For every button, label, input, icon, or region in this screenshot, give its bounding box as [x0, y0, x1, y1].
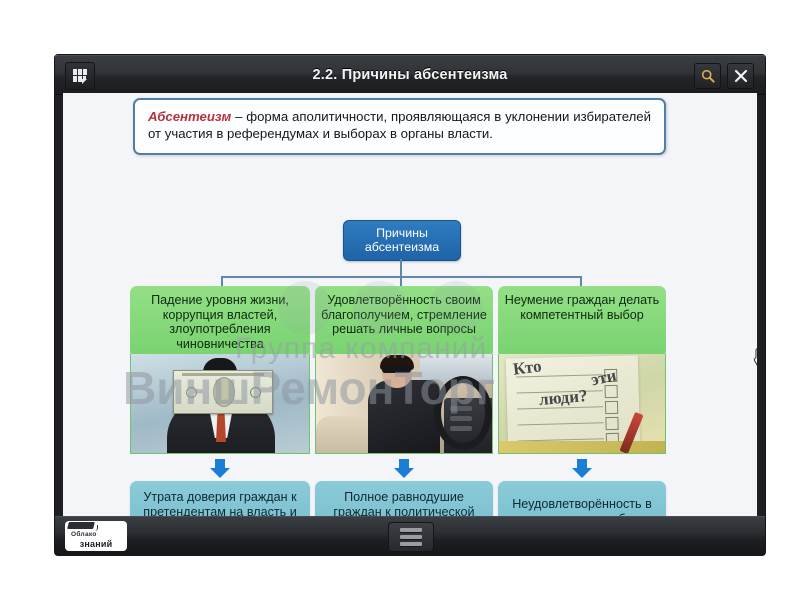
close-icon[interactable] [727, 63, 754, 89]
search-icon[interactable] [694, 63, 721, 89]
definition-text: Абсентеизм – форма аполитичности, проявл… [148, 108, 651, 143]
definition-box: Абсентеизм – форма аполитичности, проявл… [133, 98, 666, 155]
photo-man-driving [315, 354, 493, 454]
diagram-root-node: Причины абсентеизма [343, 220, 461, 261]
photo-bowler-hat-dollar [130, 354, 310, 454]
result-box-3: Неудовлетворённость в правильности выбор… [498, 481, 666, 517]
presentation-window: 2.2. Причины абсентеизма Абсентеизм – фо… [55, 55, 765, 555]
result-box-1: Утрата доверия граждан к претендентам на… [130, 481, 310, 517]
connector-branch-2 [400, 276, 402, 286]
photo-ballot-scribble: Кто эти люди? [498, 354, 666, 454]
definition-term: Абсентеизм [148, 109, 231, 124]
app-logo[interactable]: Облако знаний [65, 521, 127, 551]
logo-line-2: знаний [68, 539, 124, 549]
result-box-2: Полное равнодушие граждан к политической… [315, 481, 493, 517]
ballot-scribble-1: Кто [512, 356, 543, 379]
ballot-scribble-3: люди? [538, 386, 588, 410]
window-titlebar: 2.2. Причины абсентеизма [55, 55, 765, 95]
window-title: 2.2. Причины абсентеизма [55, 56, 765, 94]
logo-line-1: Облако [71, 531, 123, 538]
connector-branch-1 [221, 276, 223, 286]
connector-root-vertical [400, 259, 402, 276]
hamburger-menu-icon[interactable] [388, 522, 434, 552]
cause-box-2: Удовлетворённость своим благополучием, с… [315, 286, 493, 354]
search-glyph [701, 69, 715, 83]
cause-box-3: Неумение граждан делать компетентный выб… [498, 286, 666, 354]
cause-box-1: Падение уровня жизни, коррупция властей,… [130, 286, 310, 354]
close-glyph [734, 69, 748, 83]
connector-branch-3 [580, 276, 582, 286]
slide-canvas: Абсентеизм – форма аполитичности, проявл… [63, 93, 757, 517]
window-bottombar: Облако знаний [55, 516, 765, 555]
mouse-cursor-pointer [751, 346, 757, 372]
